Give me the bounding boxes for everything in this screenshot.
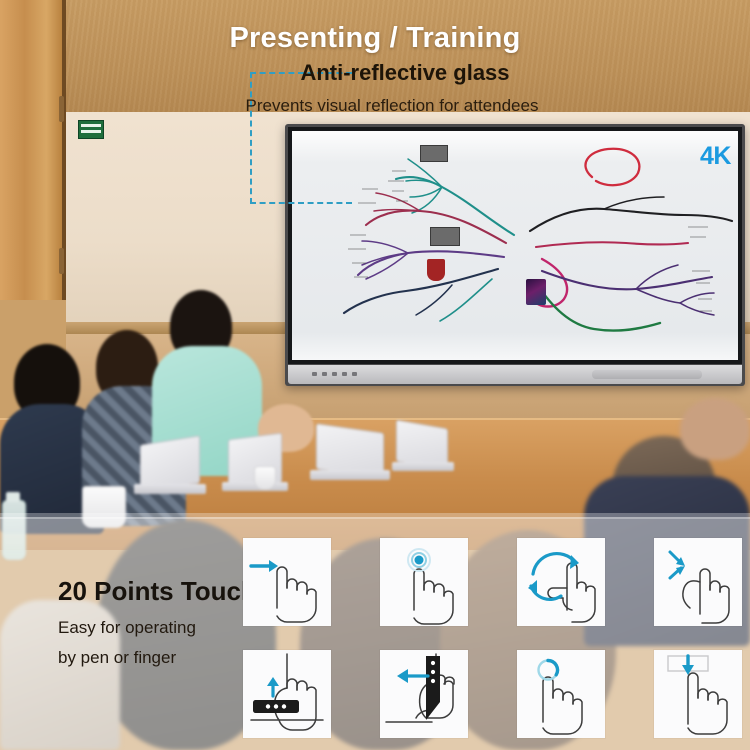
feature-title: Anti-reflective glass <box>0 60 750 86</box>
display-screen <box>292 131 738 360</box>
display-speaker-grille <box>592 370 702 379</box>
mindmap-color-thumbnail <box>526 279 546 305</box>
display-control-buttons[interactable] <box>312 372 357 376</box>
exit-sign <box>78 120 104 139</box>
rotate-gesture-icon[interactable] <box>517 538 605 626</box>
pinch-in-gesture-icon[interactable] <box>654 538 742 626</box>
tap-gesture-icon[interactable] <box>380 538 468 626</box>
swipe-up-from-bottom-gesture-icon[interactable] <box>243 650 331 738</box>
mindmap-shield-badge <box>427 259 445 281</box>
page-title: Presenting / Training <box>0 22 750 55</box>
water-bottle-cap <box>6 492 20 502</box>
touch-heading: 20 Points Touch <box>58 576 257 607</box>
touch-description-line-1: Easy for operating <box>58 618 196 638</box>
callout-bracket <box>250 72 352 204</box>
swipe-left-from-edge-gesture-icon[interactable] <box>380 650 468 738</box>
coffee-cup-2 <box>254 466 276 490</box>
mindmap-thumbnail-2 <box>430 227 460 246</box>
display-chin-bar <box>288 365 742 384</box>
gesture-icon-grid <box>243 538 743 738</box>
press-and-hold-gesture-icon[interactable] <box>517 650 605 738</box>
touch-description-line-2: by pen or finger <box>58 648 176 668</box>
door-hinge-lower <box>59 248 64 274</box>
display-bezel <box>288 127 742 364</box>
resolution-badge: 4K <box>700 142 731 171</box>
interactive-whiteboard <box>285 124 745 386</box>
mindmap-thumbnail-1 <box>420 145 448 162</box>
mind-map-diagram <box>292 131 738 360</box>
foreground-head-edge <box>680 398 750 460</box>
product-feature-image: Presenting / Training Anti-reflective gl… <box>0 0 750 750</box>
feature-description: Prevents visual reflection for attendees <box>0 96 750 116</box>
swipe-right-gesture-icon[interactable] <box>243 538 331 626</box>
swipe-down-from-top-gesture-icon[interactable] <box>654 650 742 738</box>
